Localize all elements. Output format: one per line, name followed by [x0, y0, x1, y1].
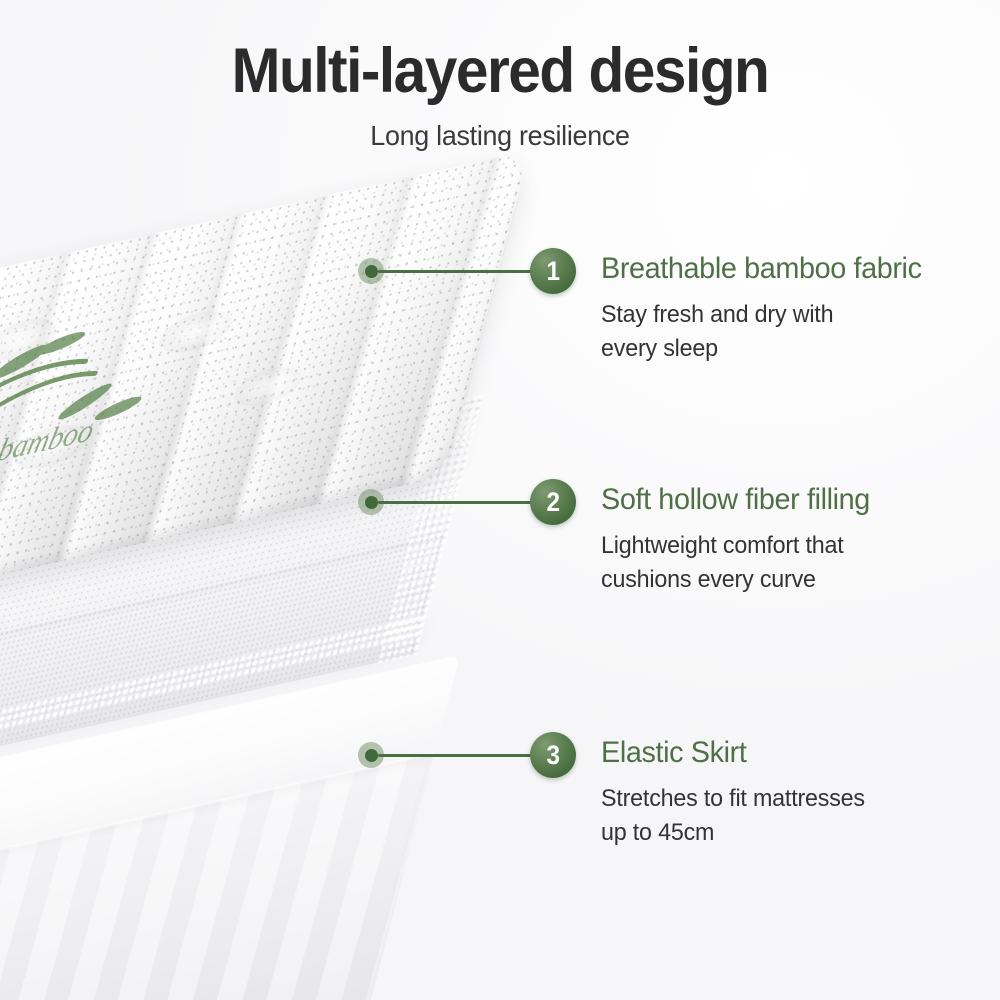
callout-1-body: Stay fresh and dry with every sleep: [601, 298, 925, 366]
callout-2-text-block: Soft hollow fiber filling Lightweight co…: [601, 483, 881, 597]
callout-2-body: Lightweight comfort that cushions every …: [601, 529, 873, 597]
callout-2-number: 2: [532, 479, 573, 525]
callout-1-number-badge: 1: [530, 248, 576, 294]
callout-1-dot-core: [365, 265, 378, 278]
callout-3-connector-line: [378, 754, 543, 757]
callout-1-title: Breathable bamboo fabric: [601, 252, 922, 285]
callout-3-text-block: Elastic Skirt Stretches to fit mattresse…: [601, 736, 873, 850]
page-title: Multi-layered design: [35, 40, 965, 103]
callout-2-connector-line: [378, 501, 543, 504]
callout-2-body-line-1: Lightweight comfort that: [601, 529, 873, 563]
callout-1-body-line-1: Stay fresh and dry with: [601, 298, 925, 332]
callout-3-body: Stretches to fit mattresses up to 45cm: [601, 782, 865, 850]
callout-2-title: Soft hollow fiber filling: [601, 483, 870, 516]
page-subtitle: Long lasting resilience: [20, 120, 980, 152]
callout-2-number-badge: 2: [530, 479, 576, 525]
callout-1-body-line-2: every sleep: [601, 332, 925, 366]
svg-text:bamboo: bamboo: [0, 412, 97, 469]
callout-1-number: 1: [532, 248, 573, 294]
callout-1-text-block: Breathable bamboo fabric Stay fresh and …: [601, 252, 935, 366]
callout-3-body-line-1: Stretches to fit mattresses: [601, 782, 865, 816]
callout-3-number: 3: [532, 732, 573, 778]
header: Multi-layered design Long lasting resili…: [0, 0, 1000, 152]
callout-3-number-badge: 3: [530, 732, 576, 778]
callout-3-body-line-2: up to 45cm: [601, 816, 865, 850]
infographic-canvas: bamboo bamboo Multi-layered design Long …: [0, 0, 1000, 1000]
callout-3-dot-core: [365, 749, 378, 762]
callout-1-connector-line: [378, 270, 543, 273]
callout-2-body-line-2: cushions every curve: [601, 563, 873, 597]
callout-2-dot-core: [365, 496, 378, 509]
callout-3-title: Elastic Skirt: [601, 736, 862, 769]
